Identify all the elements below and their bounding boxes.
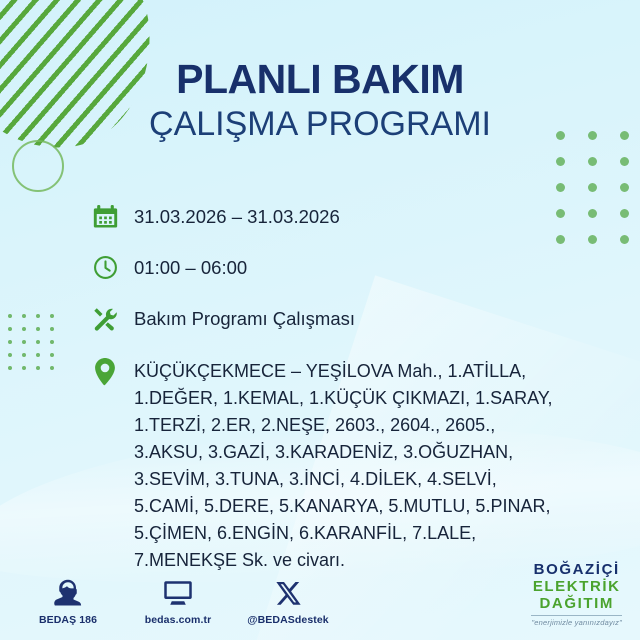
contact-x-label: @BEDASdestek [246, 614, 330, 626]
clock-icon [88, 254, 122, 286]
contact-x-account[interactable]: @BEDASdestek [246, 576, 330, 626]
contact-phone-label: BEDAŞ 186 [26, 614, 110, 626]
logo-line-3: DAĞITIM [531, 596, 622, 611]
monitor-icon [136, 576, 220, 610]
title-line-1: PLANLI BAKIM [0, 58, 640, 101]
call-center-agent-icon [26, 576, 110, 610]
logo-line-1: BOĞAZİÇİ [531, 562, 622, 577]
logo-tagline: "enerjimizle yanınızdayız" [531, 615, 622, 627]
info-row-address: KÜÇÜKÇEKMECE – YEŞİLOVA Mah., 1.ATİLLA, … [88, 356, 588, 574]
date-range-text: 31.03.2026 – 31.03.2026 [122, 203, 340, 229]
dot-grid-left-decoration [8, 314, 64, 379]
title-line-2: ÇALIŞMA PROGRAMI [0, 104, 640, 145]
location-pin-icon [88, 356, 122, 388]
calendar-icon [88, 203, 122, 235]
planned-maintenance-poster: PLANLI BAKIM ÇALIŞMA PROGRAMI 31.03.2026… [0, 0, 640, 640]
logo-line-2: ELEKTRİK [531, 579, 622, 594]
contact-website[interactable]: bedas.com.tr [136, 576, 220, 626]
info-row-time: 01:00 – 06:00 [88, 254, 588, 286]
contact-phone[interactable]: BEDAŞ 186 [26, 576, 110, 626]
info-row-work-type: Bakım Programı Çalışması [88, 305, 588, 337]
time-range-text: 01:00 – 06:00 [122, 254, 247, 280]
work-type-text: Bakım Programı Çalışması [122, 305, 355, 331]
tools-icon [88, 305, 122, 337]
contact-website-label: bedas.com.tr [136, 614, 220, 626]
address-text: KÜÇÜKÇEKMECE – YEŞİLOVA Mah., 1.ATİLLA, … [122, 356, 552, 574]
info-row-date: 31.03.2026 – 31.03.2026 [88, 203, 588, 235]
page-title: PLANLI BAKIM ÇALIŞMA PROGRAMI [0, 58, 640, 145]
footer-contact-links: BEDAŞ 186 bedas.com.tr @BEDASdestek [26, 576, 330, 626]
info-list: 31.03.2026 – 31.03.2026 01:00 – 06:00 Ba… [88, 203, 588, 574]
circle-outline-decoration [12, 140, 64, 192]
bedas-logo: BOĞAZİÇİ ELEKTRİK DAĞITIM "enerjimizle y… [531, 562, 622, 627]
x-twitter-icon [246, 576, 330, 610]
